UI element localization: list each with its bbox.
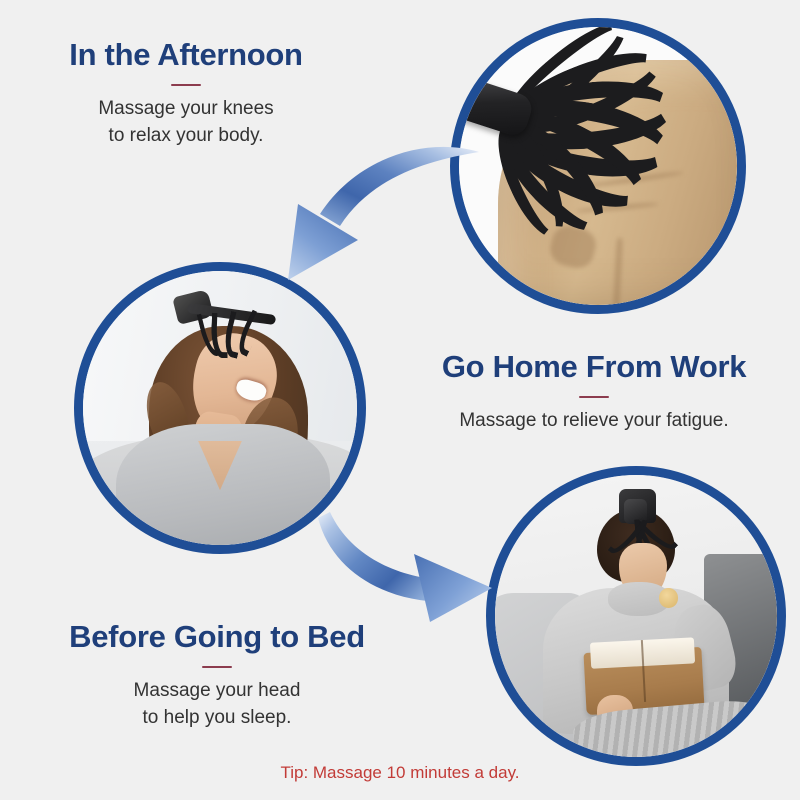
- infographic-poster: In the Afternoon Massage your knees to r…: [0, 0, 800, 800]
- section-work-subheading: Massage to relieve your fatigue.: [388, 408, 800, 435]
- tip-text: Tip: Massage 10 minutes a day.: [0, 763, 800, 783]
- section-afternoon-heading: In the Afternoon: [0, 38, 372, 73]
- photo-circle-reading-massage: [486, 466, 786, 766]
- head-massager-device: [165, 293, 286, 353]
- section-bed-subheading: Massage your head to help you sleep.: [8, 678, 426, 732]
- section-work-heading: Go Home From Work: [388, 350, 800, 385]
- arrow-shaft: [320, 147, 479, 226]
- flow-arrow-down-left: [276, 128, 486, 288]
- reading-massage-photo: [495, 475, 777, 757]
- section-afternoon-divider: [171, 84, 201, 86]
- section-bed-divider: [202, 666, 232, 668]
- arrow-head: [414, 554, 492, 622]
- section-work-text: Go Home From Work Massage to relieve you…: [388, 350, 800, 435]
- flow-arrow-right: [306, 498, 520, 650]
- photo-circle-knee-massage: [450, 18, 746, 314]
- section-work-divider: [579, 396, 609, 398]
- cookie: [659, 588, 679, 608]
- knee-massage-photo: [459, 27, 737, 305]
